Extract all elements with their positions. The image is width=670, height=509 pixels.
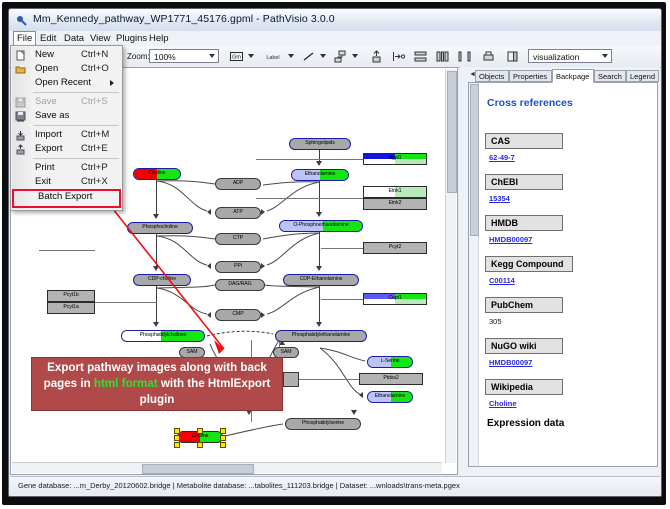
datanode-dropdown-icon[interactable] (248, 54, 254, 58)
menu-item-accel: Ctrl+O (81, 62, 109, 76)
annotation-banner: Export pathway images along with back pa… (31, 357, 283, 411)
selection-handle[interactable] (174, 428, 180, 434)
scrollbar-thumb[interactable] (447, 71, 457, 193)
pathway-node-dag-rag[interactable]: DAG/RAG (215, 279, 265, 291)
zoom-value: 100% (154, 52, 176, 62)
canvas-horizontal-scrollbar[interactable] (12, 462, 442, 473)
menu-item-import[interactable]: Import Ctrl+M (11, 128, 122, 142)
menu-item-exit[interactable]: Exit Ctrl+X (11, 175, 122, 189)
tab-objects[interactable]: Objects (475, 70, 509, 82)
pathway-node-choline[interactable]: Choline (133, 168, 181, 180)
menu-item-label: Print (35, 161, 55, 175)
xref-value-link[interactable]: 62-49-7 (489, 153, 651, 162)
menu-item-batch-export[interactable]: Batch Export (12, 189, 121, 208)
window-title: Mm_Kennedy_pathway_WP1771_45176.gpml - P… (33, 13, 335, 25)
pathvisio-window: Mm_Kennedy_pathway_WP1771_45176.gpml - P… (8, 8, 662, 497)
node-label: Cept1 (388, 296, 401, 301)
menu-item-accel: Ctrl+X (81, 175, 108, 189)
banner-text-after: with the HtmlExport plugin (140, 377, 271, 406)
import-icon (15, 130, 26, 141)
gene-node-sgpl1[interactable]: Sgpl1 (363, 153, 427, 165)
catalysis-line (256, 159, 364, 160)
reaction-anchor (283, 372, 299, 387)
menu-item-label: Import (35, 128, 62, 142)
backpage-panel[interactable]: Cross references CAS 62-49-7 ChEBI 15354… (468, 82, 658, 467)
menu-item-label: Save (35, 95, 57, 109)
save-icon (15, 97, 26, 108)
node-label: Ethanolamine (375, 394, 406, 399)
screenshot-root: Mm_Kennedy_pathway_WP1771_45176.gpml - P… (0, 0, 670, 509)
tab-backpage[interactable]: Backpage (552, 69, 594, 83)
arrowhead-icon (351, 410, 357, 415)
side-panel: ◄ Objects Properties Backpage Search Leg… (460, 67, 660, 475)
menu-item-accel: Ctrl+P (81, 161, 108, 175)
pathway-node-ppi[interactable]: PPi (215, 261, 261, 273)
node-label: SAM (187, 350, 198, 355)
menu-item-print[interactable]: Print Ctrl+P (11, 161, 122, 175)
xref-group-chebi: ChEBI 15354 (485, 172, 651, 203)
menu-item-label: Batch Export (38, 191, 92, 203)
pathway-node-ctp[interactable]: CTP (215, 233, 261, 245)
node-label: SAM (281, 350, 292, 355)
gene-node-etnk2[interactable]: Etnk2 (363, 198, 427, 210)
menu-view[interactable]: View (87, 32, 113, 45)
banner-highlight: html format (94, 377, 158, 390)
catalysis-line (39, 250, 95, 251)
menu-plugins[interactable]: Plugins (113, 32, 150, 45)
menu-item-save: Save Ctrl+S (11, 95, 122, 109)
visualization-combobox[interactable]: visualization (528, 49, 612, 63)
datanode-tool-button[interactable]: Gm (229, 49, 244, 64)
pathway-node-ethanolamine-top[interactable]: Ethanolamine (291, 169, 349, 181)
xref-value-link[interactable]: 15354 (489, 194, 651, 203)
menu-item-accel: Ctrl+S (81, 95, 108, 109)
node-label: Pcyt2 (389, 245, 401, 250)
zoom-combobox[interactable]: 100% (149, 49, 219, 63)
menu-item-accel: Ctrl+N (81, 48, 108, 62)
pathway-node-cdp-ethanolamine[interactable]: CDP-Ethanolamine (283, 274, 359, 286)
xref-value-link[interactable]: Choline (489, 399, 651, 408)
node-label: Ptdss2 (383, 376, 398, 381)
side-panel-tabs: ◄ Objects Properties Backpage Search Leg… (468, 69, 658, 83)
node-label: Ethanolamine (305, 172, 336, 177)
xref-group-nugo-wiki: NuGO wiki HMDB00097 (485, 336, 651, 367)
xref-source-label: ChEBI (485, 174, 563, 190)
open-folder-icon (15, 64, 26, 75)
gene-node-cept1[interactable]: Cept1 (363, 293, 427, 305)
menu-item-save-as[interactable]: Save as (11, 109, 122, 123)
node-label: L-Serine (381, 359, 400, 364)
stack-button[interactable] (413, 49, 428, 64)
arrowhead-icon (261, 312, 265, 318)
backpage-scrollbar[interactable] (469, 83, 479, 466)
align-top-button[interactable] (369, 49, 384, 64)
node-label: CTP (233, 236, 243, 241)
menu-separator (33, 125, 119, 126)
arrowhead-icon (261, 209, 265, 215)
node-label: O-Phosphoethanolamine (293, 223, 348, 228)
node-label: Choline (149, 171, 166, 176)
tab-properties[interactable]: Properties (509, 70, 552, 82)
gene-node-pcyt1b[interactable]: Pcyt1b (47, 290, 95, 302)
scrollbar-thumb[interactable] (470, 84, 479, 236)
node-label: Sphingolipids (305, 141, 335, 146)
scrollbar-thumb[interactable] (142, 464, 254, 474)
new-file-icon (15, 50, 26, 61)
gene-node-pcyt2[interactable]: Pcyt2 (363, 242, 427, 254)
selection-handle[interactable] (220, 442, 226, 448)
menu-item-export[interactable]: Export Ctrl+E (11, 142, 122, 156)
xref-value-link[interactable]: HMDB00097 (489, 235, 651, 244)
file-menu-popup: New Ctrl+N Open Ctrl+O Open Recent Save (10, 45, 123, 211)
menu-item-open[interactable]: Open Ctrl+O (11, 62, 122, 76)
pathway-node-adp[interactable]: ADP (215, 178, 261, 190)
pathvisio-icon (16, 14, 28, 26)
node-label: ATP (233, 210, 242, 215)
xref-source-label: NuGO wiki (485, 338, 563, 354)
selection-handle[interactable] (174, 435, 180, 441)
line-dropdown-icon[interactable] (320, 54, 326, 58)
backpage-content: Cross references CAS 62-49-7 ChEBI 15354… (479, 83, 657, 466)
expression-data-heading: Expression data (487, 418, 651, 429)
node-label: Pcyt1b (63, 293, 78, 298)
node-label: Phosphatidylethanolamine (292, 333, 350, 338)
node-label: ADP (233, 181, 243, 186)
pathway-node-ethanolamine-bottom[interactable]: Ethanolamine (367, 391, 413, 403)
arrowhead-icon (207, 312, 211, 318)
xref-source-label: HMDB (485, 215, 563, 231)
selection-handle[interactable] (220, 435, 226, 441)
pathway-node-cdp-choline[interactable]: CDP-choline (133, 274, 191, 286)
arrowhead-icon (359, 392, 363, 398)
title-bar: Mm_Kennedy_pathway_WP1771_45176.gpml - P… (9, 9, 661, 32)
menu-item-accel: Ctrl+M (81, 128, 109, 142)
node-label: DAG/RAG (228, 282, 251, 287)
gene-node-pcyt1a[interactable]: Pcyt1a (47, 302, 95, 314)
chevron-down-icon (209, 54, 215, 58)
xref-group-wikipedia: Wikipedia Choline (485, 377, 651, 408)
svg-text:Label: Label (266, 55, 279, 61)
status-bar: Gene database: ...m_Derby_20120602.bridg… (10, 476, 660, 494)
shape-tool-button[interactable] (333, 49, 348, 64)
align-left-button[interactable] (391, 49, 406, 64)
label-tool-button[interactable]: Label (261, 49, 285, 64)
node-label: CDP-choline (148, 277, 176, 282)
visualization-value: visualization (533, 52, 579, 62)
menu-item-label: Open Recent (35, 76, 91, 90)
xref-source-label: Kegg Compound (485, 256, 573, 272)
pathway-node-o-phosphoethanolamine[interactable]: O-Phosphoethanolamine (279, 220, 363, 232)
arrowhead-icon (207, 209, 211, 215)
node-label: Etnk2 (389, 201, 402, 206)
menu-item-open-recent[interactable]: Open Recent (11, 76, 122, 90)
xref-group-pubchem: PubChem 305 (485, 295, 651, 326)
distribute-button[interactable] (435, 49, 450, 64)
node-label: Phosphocholine (142, 225, 178, 230)
banner-text: Export pathway images along with back pa… (38, 360, 276, 408)
cross-references-heading: Cross references (487, 97, 651, 109)
menu-edit[interactable]: Edit (37, 32, 59, 45)
arrowhead-icon (207, 263, 211, 269)
selection-handle[interactable] (174, 442, 180, 448)
pathway-node-sphingolipids[interactable]: Sphingolipids (289, 138, 351, 150)
xref-value-link[interactable]: C00114 (489, 276, 651, 285)
tab-search[interactable]: Search (594, 70, 626, 82)
arrowhead-icon (261, 263, 265, 269)
line-tool-button[interactable] (301, 49, 316, 64)
label-dropdown-icon[interactable] (288, 54, 294, 58)
node-label: CMP (232, 312, 243, 317)
catalysis-line (256, 198, 364, 199)
catalysis-line (95, 302, 157, 303)
pathway-node-phosphocholine[interactable]: Phosphocholine (127, 222, 193, 234)
sidebar-toggle-button[interactable] (505, 49, 520, 64)
xref-value-link[interactable]: HMDB00097 (489, 358, 651, 367)
common-width-button[interactable] (457, 49, 472, 64)
gene-node-ptdss2[interactable]: Ptdss2 (359, 373, 423, 385)
pathway-node-phosphatidylcholines[interactable]: Phosphatidylcholines (121, 330, 205, 342)
xref-group-kegg-compound: Kegg Compound C00114 (485, 254, 651, 285)
node-label: Choline (192, 434, 209, 439)
shape-dropdown-icon[interactable] (352, 54, 358, 58)
tab-legend[interactable]: Legend (626, 70, 659, 82)
menu-item-accel: Ctrl+E (81, 142, 108, 156)
selection-handle[interactable] (220, 428, 226, 434)
node-label: CDP-Ethanolamine (300, 277, 343, 282)
svg-text:Gm: Gm (232, 55, 241, 61)
menu-item-new[interactable]: New Ctrl+N (11, 48, 122, 62)
menu-separator (33, 92, 119, 93)
pathway-node-l-serine[interactable]: L-Serine (367, 356, 413, 368)
xref-source-label: Wikipedia (485, 379, 563, 395)
menu-item-label: Export (35, 142, 62, 156)
pathway-node-atp[interactable]: ATP (215, 207, 261, 219)
menu-item-label: Open (35, 62, 58, 76)
save-as-icon (15, 111, 26, 122)
node-label: Phosphatidylcholines (140, 333, 187, 338)
canvas-vertical-scrollbar[interactable] (445, 69, 456, 463)
xref-value-text: 305 (489, 317, 651, 326)
node-label: Sgpl1 (389, 156, 402, 161)
node-label: Phosphatidylserine (302, 421, 344, 426)
xref-group-hmdb: HMDB HMDB00097 (485, 213, 651, 244)
menu-separator (33, 158, 119, 159)
catalysis-line (321, 248, 365, 249)
gene-node-etnk1[interactable]: Etnk1 (363, 186, 427, 198)
chevron-down-icon (602, 54, 608, 58)
menu-data[interactable]: Data (61, 32, 87, 45)
chevron-right-icon (110, 80, 114, 86)
export-icon (15, 144, 26, 155)
xref-source-label: PubChem (485, 297, 563, 313)
catalysis-line (321, 299, 365, 300)
print-button[interactable] (481, 49, 496, 64)
menu-help[interactable]: Help (146, 32, 172, 45)
menu-item-label: New (35, 48, 54, 62)
pathway-node-phosphatidylserine[interactable]: Phosphatidylserine (285, 418, 361, 430)
node-label: Pcyt1a (63, 305, 78, 310)
status-text: Gene database: ...m_Derby_20120602.bridg… (18, 481, 460, 490)
xref-group-cas: CAS 62-49-7 (485, 131, 651, 162)
node-label: Etnk1 (389, 189, 402, 194)
selection-handle[interactable] (197, 442, 203, 448)
xref-source-label: CAS (485, 133, 563, 149)
zoom-label: Zoom: (127, 52, 150, 61)
pathway-node-phosphatidylethanolamine[interactable]: Phosphatidylethanolamine (275, 330, 367, 342)
catalysis-line (297, 379, 359, 380)
menu-item-label: Exit (35, 175, 51, 189)
pathway-node-cmp[interactable]: CMP (215, 309, 261, 321)
node-label: PPi (234, 264, 242, 269)
menu-item-label: Save as (35, 109, 69, 123)
